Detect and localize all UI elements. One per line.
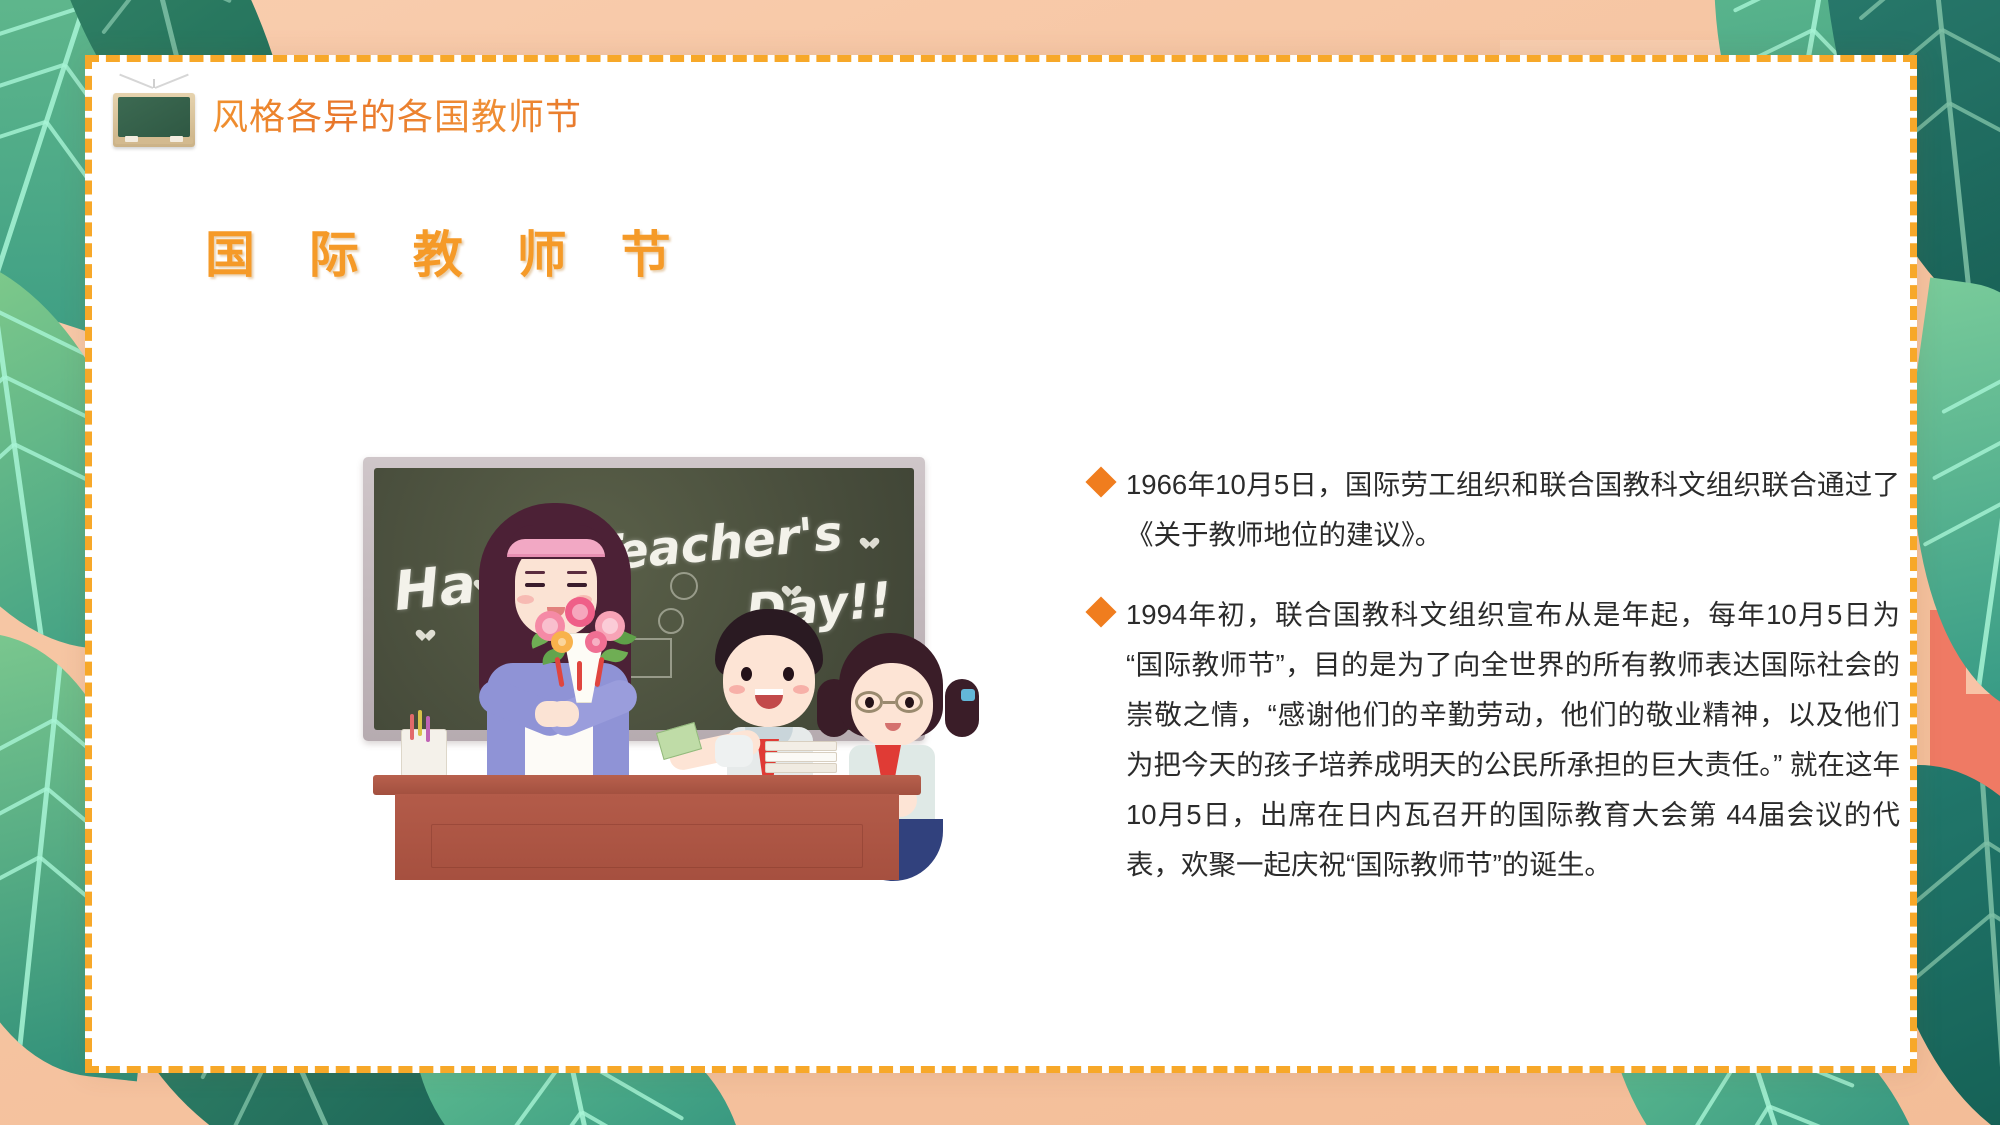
chalk-heart-icon: [782, 586, 795, 598]
teacher-desk: [373, 775, 921, 883]
chalk-doodle-figure: [658, 608, 684, 634]
slide-content-card: 风格各异的各国教师节 国 际 教 师 节 Ha Teacher's Day!!: [85, 55, 1917, 1073]
list-item: 1966年10月5日，国际劳工组织和联合国教科文组织联合通过了《关于教师地位的建…: [1090, 460, 1900, 560]
chalk-doodle-sun: [670, 572, 698, 600]
bullet-text: 1966年10月5日，国际劳工组织和联合国教科文组织联合通过了《关于教师地位的建…: [1126, 460, 1900, 560]
page-title: 国 际 教 师 节: [205, 215, 691, 287]
slide-header: 风格各异的各国教师节: [110, 79, 582, 149]
diamond-bullet-icon: [1085, 466, 1116, 497]
header-title: 风格各异的各国教师节: [212, 88, 582, 140]
diamond-bullet-icon: [1085, 596, 1116, 627]
chalk-heart-icon: [416, 630, 429, 642]
chalk-heart-icon: [860, 538, 873, 550]
bullet-text: 1994年初，联合国教科文组织宣布从是年起，每年10月5日为“国际教师节”，目的…: [1126, 590, 1900, 890]
pen-cup: [401, 729, 447, 777]
bullet-list: 1966年10月5日，国际劳工组织和联合国教科文组织联合通过了《关于教师地位的建…: [1090, 460, 1900, 920]
stacked-books: [765, 741, 837, 777]
blackboard-icon: [110, 79, 198, 149]
teachers-day-illustration: Ha Teacher's Day!!: [363, 457, 933, 887]
list-item: 1994年初，联合国教科文组织宣布从是年起，每年10月5日为“国际教师节”，目的…: [1090, 590, 1900, 890]
flower-bouquet: [523, 587, 653, 707]
